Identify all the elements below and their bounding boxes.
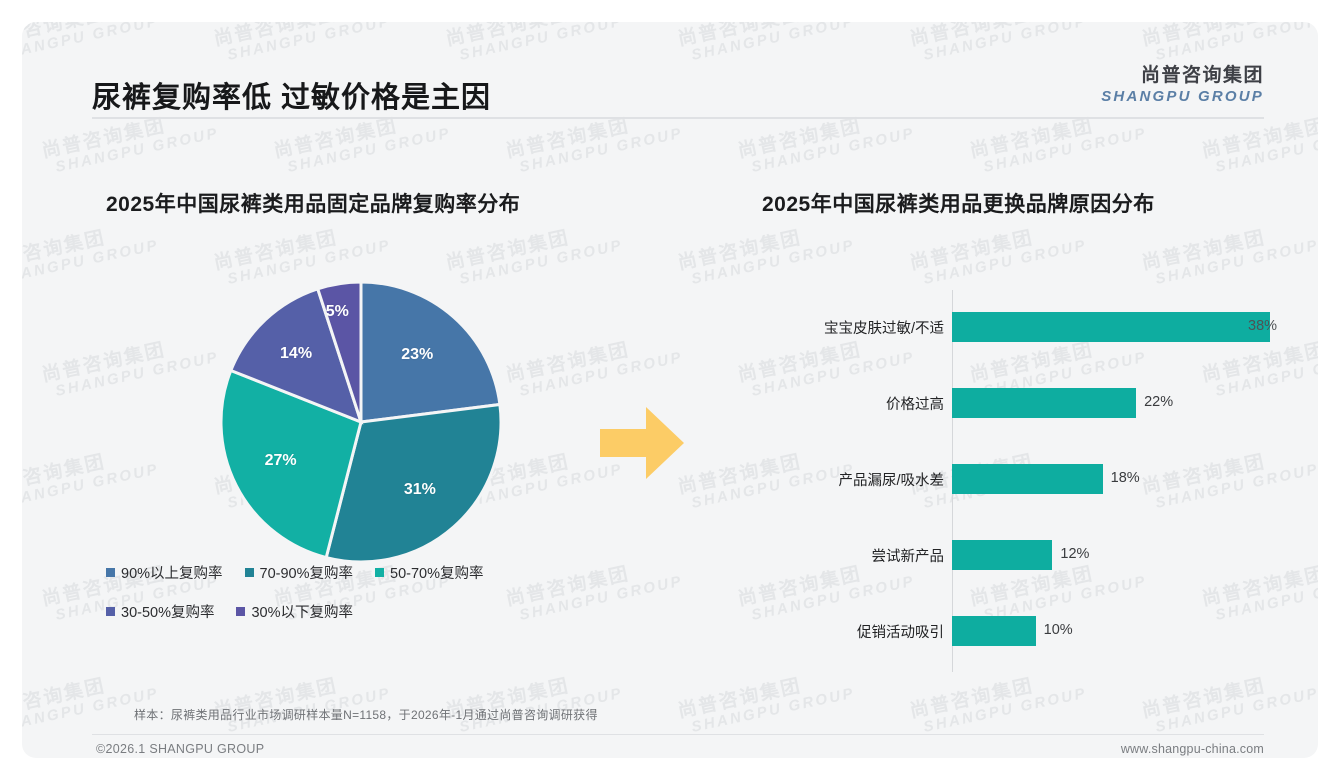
bar-value-label: 22% — [1144, 394, 1173, 410]
page-title: 尿裤复购率低 过敏价格是主因 — [92, 74, 491, 116]
bar-fill[interactable] — [952, 388, 1136, 418]
watermark-text: 尚普咨询集团SHANGPU GROUP — [444, 666, 624, 738]
bar-fill[interactable] — [952, 540, 1052, 570]
bar-category-label: 尝试新产品 — [762, 545, 952, 566]
slide-canvas: 尚普咨询集团SHANGPU GROUP尚普咨询集团SHANGPU GROUP尚普… — [22, 22, 1318, 758]
pie-svg — [216, 277, 506, 567]
footer-divider — [92, 734, 1264, 735]
bar-row: 宝宝皮肤过敏/不适38% — [762, 312, 1272, 342]
brand-logo: 尚普咨询集团 SHANGPU GROUP — [1101, 60, 1264, 105]
right-chart-title: 2025年中国尿裤类用品更换品牌原因分布 — [762, 188, 1155, 218]
pie-slice-label: 5% — [326, 303, 349, 321]
bar-value-label: 10% — [1044, 622, 1073, 638]
source-footnote: 样本：尿裤类用品行业市场调研样本量N=1158，于2026年-1月通过尚普咨询调… — [134, 706, 598, 723]
legend-row: 90%以上复购率 70-90%复购率 50-70%复购率 — [106, 562, 666, 583]
bar-track: 22% — [952, 388, 1272, 418]
bar-track: 12% — [952, 540, 1272, 570]
watermark-text: 尚普咨询集团SHANGPU GROUP — [1140, 218, 1318, 290]
legend-item-1[interactable]: 70-90%复购率 — [245, 562, 353, 583]
pie-slice-label: 31% — [404, 481, 436, 499]
bar-row: 促销活动吸引10% — [762, 616, 1272, 646]
switch-reason-bar-chart: 宝宝皮肤过敏/不适38%价格过高22%产品漏尿/吸水差18%尝试新产品12%促销… — [762, 290, 1272, 672]
header-divider — [92, 117, 1264, 119]
pie-slice-label: 27% — [265, 452, 297, 470]
bar-category-label: 价格过高 — [762, 393, 952, 414]
bar-row: 尝试新产品12% — [762, 540, 1272, 570]
legend-swatch-icon — [106, 568, 115, 577]
legend-item-0[interactable]: 90%以上复购率 — [106, 562, 223, 583]
footer-website[interactable]: www.shangpu-china.com — [1121, 742, 1264, 756]
logo-text-en: SHANGPU GROUP — [1101, 88, 1264, 105]
legend-swatch-icon — [375, 568, 384, 577]
bar-value-label: 18% — [1111, 470, 1140, 486]
legend-swatch-icon — [106, 607, 115, 616]
pie-legend: 90%以上复购率 70-90%复购率 50-70%复购率 30-50%复购率 3… — [106, 562, 666, 640]
bar-value-label: 38% — [1248, 318, 1277, 334]
bar-row: 价格过高22% — [762, 388, 1272, 418]
legend-label: 30-50%复购率 — [121, 601, 214, 622]
legend-label: 50-70%复购率 — [390, 562, 483, 583]
logo-text-cn: 尚普咨询集团 — [1101, 60, 1264, 87]
legend-item-2[interactable]: 50-70%复购率 — [375, 562, 483, 583]
bar-category-label: 产品漏尿/吸水差 — [762, 469, 952, 490]
watermark-text: 尚普咨询集团SHANGPU GROUP — [1140, 666, 1318, 738]
bar-fill[interactable] — [952, 464, 1103, 494]
legend-item-3[interactable]: 30-50%复购率 — [106, 601, 214, 622]
legend-item-4[interactable]: 30%以下复购率 — [236, 601, 353, 622]
legend-label: 90%以上复购率 — [121, 562, 223, 583]
bar-track: 18% — [952, 464, 1272, 494]
left-chart-title: 2025年中国尿裤类用品固定品牌复购率分布 — [106, 188, 520, 218]
legend-label: 70-90%复购率 — [260, 562, 353, 583]
legend-swatch-icon — [245, 568, 254, 577]
bar-fill[interactable] — [952, 616, 1036, 646]
pie-slice-label: 23% — [401, 346, 433, 364]
watermark-text: 尚普咨询集团SHANGPU GROUP — [908, 666, 1088, 738]
slide-header: 尿裤复购率低 过敏价格是主因 尚普咨询集团 SHANGPU GROUP — [22, 22, 1318, 118]
bar-category-label: 宝宝皮肤过敏/不适 — [762, 317, 952, 338]
footer-copyright: ©2026.1 SHANGPU GROUP — [96, 742, 264, 756]
legend-swatch-icon — [236, 607, 245, 616]
bar-track: 38% — [952, 312, 1272, 342]
pie-slice-label: 14% — [280, 345, 312, 363]
watermark-text: 尚普咨询集团SHANGPU GROUP — [908, 218, 1088, 290]
watermark-text: 尚普咨询集团SHANGPU GROUP — [676, 666, 856, 738]
bar-value-label: 12% — [1060, 546, 1089, 562]
legend-label: 30%以下复购率 — [251, 601, 353, 622]
bar-fill[interactable] — [952, 312, 1270, 342]
bar-row: 产品漏尿/吸水差18% — [762, 464, 1272, 494]
bar-track: 10% — [952, 616, 1272, 646]
bar-category-label: 促销活动吸引 — [762, 621, 952, 642]
watermark-text: 尚普咨询集团SHANGPU GROUP — [212, 666, 392, 738]
watermark-text: 尚普咨询集团SHANGPU GROUP — [22, 666, 160, 738]
watermark-text: 尚普咨询集团SHANGPU GROUP — [676, 218, 856, 290]
flow-arrow-icon — [600, 405, 686, 486]
legend-row: 30-50%复购率 30%以下复购率 — [106, 601, 666, 622]
